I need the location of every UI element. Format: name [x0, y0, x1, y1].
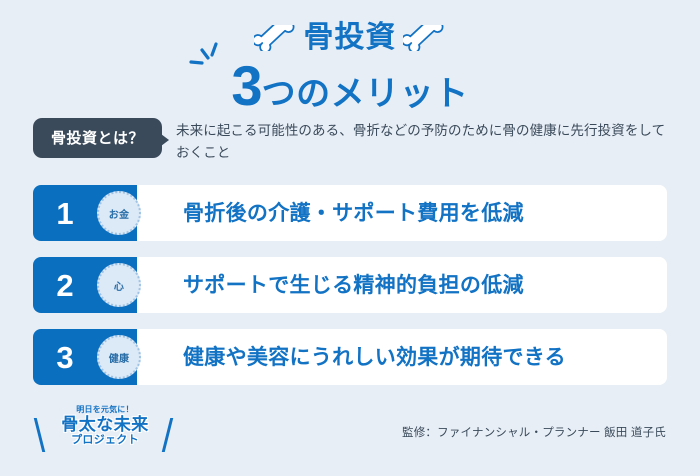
merit-badge-label: 健康 [109, 350, 130, 365]
merit-badge: お金 [97, 191, 141, 235]
bone-icon [254, 25, 298, 51]
title-area: 骨投資 3 つのメリット [0, 16, 700, 110]
merit-badge: 心 [97, 263, 141, 307]
title-main-row: 3 つのメリット [0, 58, 700, 110]
definition-label: 骨投資とは？ [33, 118, 162, 158]
poster-root: 骨投資 3 つのメリット 骨投資とは？ [0, 0, 700, 476]
title-headline-top: 骨投資 [304, 23, 397, 53]
merit-number: 1 [56, 198, 73, 229]
title-top-row: 骨投資 [0, 16, 700, 60]
logo-tagline: 明日を元気に！ [46, 404, 164, 415]
merit-row: 3 健康 健康や美容にうれしい効果が期待できる [33, 329, 667, 385]
merit-text: 骨折後の介護・サポート費用を低減 [183, 203, 524, 224]
sparkle-icon [188, 42, 228, 72]
definition-label-wrap: 骨投資とは？ [33, 118, 162, 158]
title-headline-main: つのメリット [262, 77, 469, 111]
credit-line: 監修：ファイナンシャル・プランナー 飯田 道子氏 [402, 424, 666, 440]
definition-body: 未来に起こる可能性のある、骨折などの予防のために骨の健康に先行投資をしておくこと [176, 118, 667, 164]
merit-badge: 健康 [97, 335, 141, 379]
merit-row: 2 心 サポートで生じる精神的負担の低減 [33, 257, 667, 313]
bone-icon [403, 25, 447, 51]
logo-main-wrap: 骨太な未来 プロジェクト [30, 416, 180, 454]
merit-text: 健康や美容にうれしい効果が期待できる [183, 347, 566, 368]
title-number: 3 [231, 58, 261, 114]
merit-list: 1 お金 骨折後の介護・サポート費用を低減 2 心 サポートで生じる精神的負担の… [33, 185, 667, 401]
definition-block: 骨投資とは？ 未来に起こる可能性のある、骨折などの予防のために骨の健康に先行投資… [33, 118, 667, 164]
merit-badge-label: 心 [114, 278, 124, 293]
logo-slash-left-icon [34, 418, 45, 452]
merit-number: 2 [56, 270, 73, 301]
merit-row: 1 お金 骨折後の介護・サポート費用を低減 [33, 185, 667, 241]
logo-main-text: 骨太な未来 [46, 416, 164, 434]
merit-text: サポートで生じる精神的負担の低減 [183, 275, 524, 296]
definition-label-tail [161, 134, 169, 146]
logo-sub-text: プロジェクト [46, 434, 164, 446]
project-logo: 明日を元気に！ 骨太な未来 プロジェクト [30, 404, 180, 454]
merit-badge-label: お金 [109, 206, 130, 221]
merit-number: 3 [56, 342, 73, 373]
